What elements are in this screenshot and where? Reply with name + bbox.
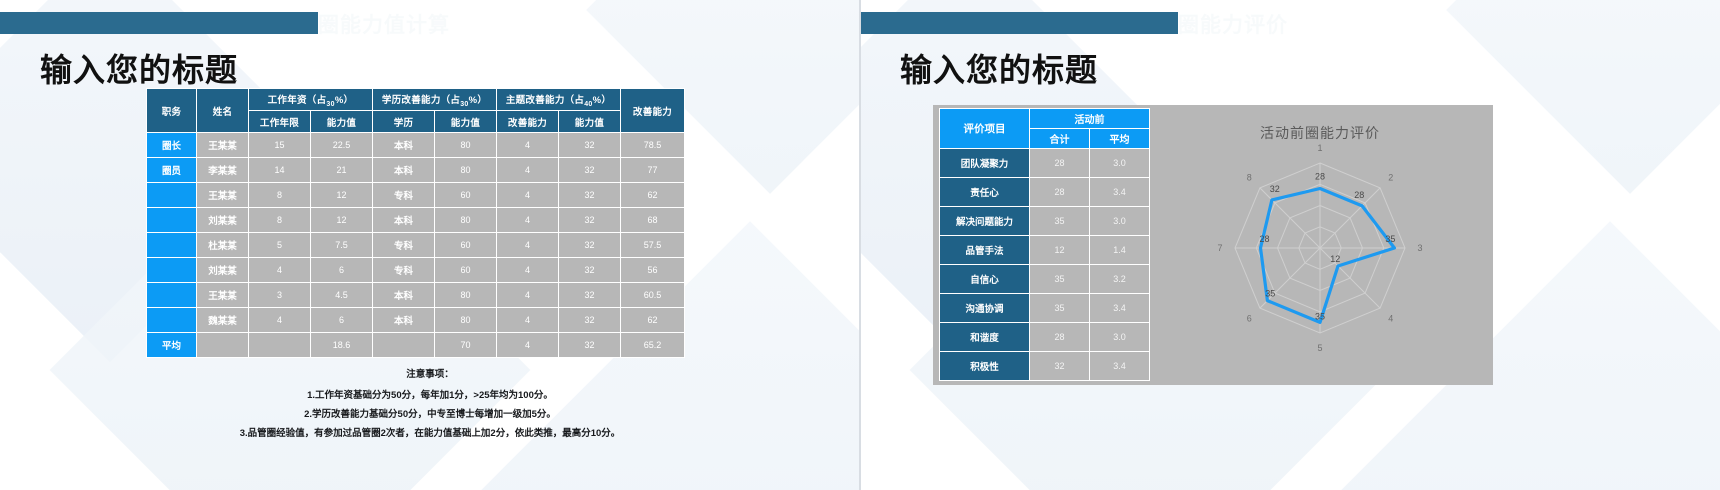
cell-years: 3 xyxy=(249,283,311,308)
capability-table-head: 职务 姓名 工作年资（占30%） 学历改善能力（占30%） 主题改善能力（占40… xyxy=(147,89,685,133)
cell-cap1: 6 xyxy=(311,308,373,333)
avg-cell-cap2: 70 xyxy=(435,333,497,358)
cell-cap2: 60 xyxy=(435,258,497,283)
evaluation-table: 评价项目 活动前 合计 平均 团队凝聚力283.0责任心283.4解决问题能力3… xyxy=(939,108,1150,381)
cell-cap3: 32 xyxy=(559,233,621,258)
cell-eval-avg: 3.4 xyxy=(1090,294,1150,323)
cell-cap1: 6 xyxy=(311,258,373,283)
cell-total: 57.5 xyxy=(621,233,685,258)
notes-line-1: 1.工作年资基础分为50分，每年加1分，>25年均为100分。 xyxy=(0,386,860,405)
cell-eval-avg: 3.0 xyxy=(1090,323,1150,352)
cell-eval-item: 责任心 xyxy=(940,178,1030,207)
radar-value-label: 12 xyxy=(1330,254,1340,264)
cell-total: 78.5 xyxy=(621,133,685,158)
table-row: 圈员李某某1421本科8043277 xyxy=(147,158,685,183)
evaluation-header-row-1: 评价项目 活动前 xyxy=(940,109,1150,129)
notes-line-2: 2.学历改善能力基础分50分，中专至博士每增加一级加5分。 xyxy=(0,405,860,424)
cell-cap2: 80 xyxy=(435,133,497,158)
cell-eval-sum: 28 xyxy=(1030,178,1090,207)
th-cap1: 能力值 xyxy=(311,111,373,133)
capability-table: 职务 姓名 工作年资（占30%） 学历改善能力（占30%） 主题改善能力（占40… xyxy=(146,88,685,358)
cell-cap2: 80 xyxy=(435,308,497,333)
cell-name: 王某某 xyxy=(197,283,249,308)
table-row: 刘某某46专科6043256 xyxy=(147,258,685,283)
radar-axis-label: 5 xyxy=(1317,343,1322,353)
cell-cap1: 22.5 xyxy=(311,133,373,158)
cell-role xyxy=(147,258,197,283)
notes-block: 注意事项： 1.工作年资基础分为50分，每年加1分，>25年均为100分。 2.… xyxy=(0,365,860,443)
cell-eval-avg: 3.0 xyxy=(1090,207,1150,236)
header-row-group: 职务 姓名 工作年资（占30%） 学历改善能力（占30%） 主题改善能力（占40… xyxy=(147,89,685,111)
slide-capability-calculation: 圈能力值计算 输入您的标题 职务 姓名 工作年资（占30%） 学历改善能力（占3… xyxy=(0,0,860,490)
cell-role xyxy=(147,233,197,258)
cell-name: 刘某某 xyxy=(197,208,249,233)
notes-title: 注意事项： xyxy=(0,365,860,384)
th-name: 姓名 xyxy=(197,89,249,133)
cell-years: 4 xyxy=(249,258,311,283)
cell-name: 刘某某 xyxy=(197,258,249,283)
avg-cell-name xyxy=(197,333,249,358)
table-row: 和谐度283.0 xyxy=(940,323,1150,352)
radar-chart-title: 活动前圈能力评价 xyxy=(1160,123,1480,143)
cell-name: 杜某某 xyxy=(197,233,249,258)
cell-improve: 4 xyxy=(497,133,559,158)
avg-cell-role: 平均 xyxy=(147,333,197,358)
th-eval-sum: 合计 xyxy=(1030,129,1090,149)
cell-name: 王某某 xyxy=(197,183,249,208)
avg-cell-improve: 4 xyxy=(497,333,559,358)
cell-role xyxy=(147,208,197,233)
cell-cap1: 12 xyxy=(311,183,373,208)
evaluation-table-head: 评价项目 活动前 合计 平均 xyxy=(940,109,1150,149)
cell-role xyxy=(147,183,197,208)
cell-years: 14 xyxy=(249,158,311,183)
cell-improve: 4 xyxy=(497,208,559,233)
notes-line-3: 3.品管圈经验值，有参加过品管圈2次者，在能力值基础上加2分，依此类推，最高分1… xyxy=(0,424,860,443)
page-title-right: 输入您的标题 xyxy=(900,45,1098,91)
cell-improve: 4 xyxy=(497,308,559,333)
th-cap2: 能力值 xyxy=(435,111,497,133)
radar-value-label: 28 xyxy=(1259,234,1269,244)
evaluation-table-wrapper: 评价项目 活动前 合计 平均 团队凝聚力283.0责任心283.4解决问题能力3… xyxy=(939,108,1150,381)
cell-eval-sum: 12 xyxy=(1030,236,1090,265)
capability-table-body: 圈长王某某1522.5本科8043278.5圈员李某某1421本科8043277… xyxy=(147,133,685,358)
cell-eval-avg: 3.0 xyxy=(1090,149,1150,178)
cell-years: 8 xyxy=(249,183,311,208)
table-row: 刘某某812本科8043268 xyxy=(147,208,685,233)
cell-eval-avg: 3.2 xyxy=(1090,265,1150,294)
cell-eval-avg: 3.4 xyxy=(1090,178,1150,207)
cell-eval-sum: 35 xyxy=(1030,294,1090,323)
cell-eval-item: 团队凝聚力 xyxy=(940,149,1030,178)
cell-name: 王某某 xyxy=(197,133,249,158)
avg-cell-total: 65.2 xyxy=(621,333,685,358)
cell-degree: 本科 xyxy=(373,158,435,183)
th-role: 职务 xyxy=(147,89,197,133)
cell-cap1: 12 xyxy=(311,208,373,233)
header-band-right xyxy=(860,12,1178,34)
th-eval-item: 评价项目 xyxy=(940,109,1030,149)
radar-value-label: 28 xyxy=(1315,172,1325,182)
cell-years: 8 xyxy=(249,208,311,233)
table-row: 解决问题能力353.0 xyxy=(940,207,1150,236)
radar-axis-label: 8 xyxy=(1247,172,1252,182)
cell-name: 魏某某 xyxy=(197,308,249,333)
cell-cap1: 21 xyxy=(311,158,373,183)
cell-eval-item: 和谐度 xyxy=(940,323,1030,352)
radar-axis-label: 1 xyxy=(1317,143,1322,153)
cell-cap2: 80 xyxy=(435,283,497,308)
cell-eval-sum: 28 xyxy=(1030,323,1090,352)
cell-cap3: 32 xyxy=(559,258,621,283)
cell-total: 62 xyxy=(621,308,685,333)
radar-axis-label: 2 xyxy=(1388,172,1393,182)
cell-degree: 专科 xyxy=(373,258,435,283)
cell-eval-item: 积极性 xyxy=(940,352,1030,381)
avg-cell-degree xyxy=(373,333,435,358)
cell-eval-sum: 35 xyxy=(1030,207,1090,236)
cell-eval-sum: 28 xyxy=(1030,149,1090,178)
cell-cap3: 32 xyxy=(559,183,621,208)
cell-eval-avg: 1.4 xyxy=(1090,236,1150,265)
cell-cap1: 4.5 xyxy=(311,283,373,308)
cell-degree: 本科 xyxy=(373,283,435,308)
th-improve: 改善能力 xyxy=(497,111,559,133)
table-row: 杜某某57.5专科6043257.5 xyxy=(147,233,685,258)
radar-value-label: 32 xyxy=(1270,184,1280,194)
slide-divider xyxy=(859,0,861,490)
cell-eval-item: 解决问题能力 xyxy=(940,207,1030,236)
cell-eval-sum: 32 xyxy=(1030,352,1090,381)
cell-improve: 4 xyxy=(497,283,559,308)
cell-cap2: 60 xyxy=(435,233,497,258)
th-total: 改善能力 xyxy=(621,89,685,133)
cell-role: 圈长 xyxy=(147,133,197,158)
th-eval-group: 活动前 xyxy=(1030,109,1150,129)
cell-degree: 专科 xyxy=(373,233,435,258)
page-title-left: 输入您的标题 xyxy=(40,45,238,91)
cell-degree: 本科 xyxy=(373,133,435,158)
table-row: 积极性323.4 xyxy=(940,352,1150,381)
cell-total: 56 xyxy=(621,258,685,283)
capability-table-wrapper: 职务 姓名 工作年资（占30%） 学历改善能力（占30%） 主题改善能力（占40… xyxy=(146,88,685,358)
header-label-left: 圈能力值计算 xyxy=(318,9,450,39)
cell-name: 李某某 xyxy=(197,158,249,183)
table-row: 魏某某46本科8043262 xyxy=(147,308,685,333)
cell-cap3: 32 xyxy=(559,158,621,183)
cell-improve: 4 xyxy=(497,233,559,258)
avg-cell-years xyxy=(249,333,311,358)
th-topic-group: 主题改善能力（占40%） xyxy=(497,89,621,111)
cell-years: 5 xyxy=(249,233,311,258)
radar-chart: 活动前圈能力评价 123456782828351235352832 xyxy=(1160,115,1480,380)
avg-cell-cap3: 32 xyxy=(559,333,621,358)
cell-years: 15 xyxy=(249,133,311,158)
table-row: 自信心353.2 xyxy=(940,265,1150,294)
table-row-average: 平均18.67043265.2 xyxy=(147,333,685,358)
avg-cell-cap1: 18.6 xyxy=(311,333,373,358)
cell-role xyxy=(147,283,197,308)
slide-deck: 圈能力值计算 输入您的标题 职务 姓名 工作年资（占30%） 学历改善能力（占3… xyxy=(0,0,1720,490)
cell-total: 62 xyxy=(621,183,685,208)
evaluation-table-body: 团队凝聚力283.0责任心283.4解决问题能力353.0品管手法121.4自信… xyxy=(940,149,1150,381)
cell-role xyxy=(147,308,197,333)
cell-cap3: 32 xyxy=(559,283,621,308)
cell-improve: 4 xyxy=(497,158,559,183)
cell-cap2: 80 xyxy=(435,158,497,183)
cell-cap3: 32 xyxy=(559,308,621,333)
cell-degree: 本科 xyxy=(373,208,435,233)
cell-degree: 专科 xyxy=(373,183,435,208)
cell-eval-item: 品管手法 xyxy=(940,236,1030,265)
th-cap3: 能力值 xyxy=(559,111,621,133)
cell-cap3: 32 xyxy=(559,133,621,158)
table-row: 团队凝聚力283.0 xyxy=(940,149,1150,178)
radar-value-label: 35 xyxy=(1315,311,1325,321)
cell-total: 68 xyxy=(621,208,685,233)
cell-years: 4 xyxy=(249,308,311,333)
th-education-group: 学历改善能力（占30%） xyxy=(373,89,497,111)
radar-axis-label: 7 xyxy=(1217,243,1222,253)
radar-value-label: 35 xyxy=(1385,234,1395,244)
cell-eval-avg: 3.4 xyxy=(1090,352,1150,381)
radar-axis-label: 3 xyxy=(1417,243,1422,253)
table-row: 圈长王某某1522.5本科8043278.5 xyxy=(147,133,685,158)
th-degree: 学历 xyxy=(373,111,435,133)
cell-role: 圈员 xyxy=(147,158,197,183)
cell-eval-item: 自信心 xyxy=(940,265,1030,294)
cell-improve: 4 xyxy=(497,183,559,208)
cell-total: 60.5 xyxy=(621,283,685,308)
radar-axis-label: 6 xyxy=(1247,314,1252,324)
header-label-right: 圈能力评价 xyxy=(1178,9,1288,39)
table-row: 品管手法121.4 xyxy=(940,236,1150,265)
th-years: 工作年限 xyxy=(249,111,311,133)
cell-degree: 本科 xyxy=(373,308,435,333)
cell-cap3: 32 xyxy=(559,208,621,233)
radar-value-label: 28 xyxy=(1354,190,1364,200)
table-row: 沟通协调353.4 xyxy=(940,294,1150,323)
table-row: 王某某34.5本科8043260.5 xyxy=(147,283,685,308)
header-band-left xyxy=(0,12,318,34)
cell-cap2: 80 xyxy=(435,208,497,233)
cell-total: 77 xyxy=(621,158,685,183)
th-seniority-group: 工作年资（占30%） xyxy=(249,89,373,111)
radar-chart-svg: 123456782828351235352832 xyxy=(1160,143,1480,375)
radar-axis-label: 4 xyxy=(1388,314,1393,324)
cell-eval-item: 沟通协调 xyxy=(940,294,1030,323)
cell-cap1: 7.5 xyxy=(311,233,373,258)
cell-cap2: 60 xyxy=(435,183,497,208)
cell-eval-sum: 35 xyxy=(1030,265,1090,294)
cell-improve: 4 xyxy=(497,258,559,283)
table-row: 王某某812专科6043262 xyxy=(147,183,685,208)
th-eval-avg: 平均 xyxy=(1090,129,1150,149)
table-row: 责任心283.4 xyxy=(940,178,1150,207)
radar-value-label: 35 xyxy=(1265,289,1275,299)
